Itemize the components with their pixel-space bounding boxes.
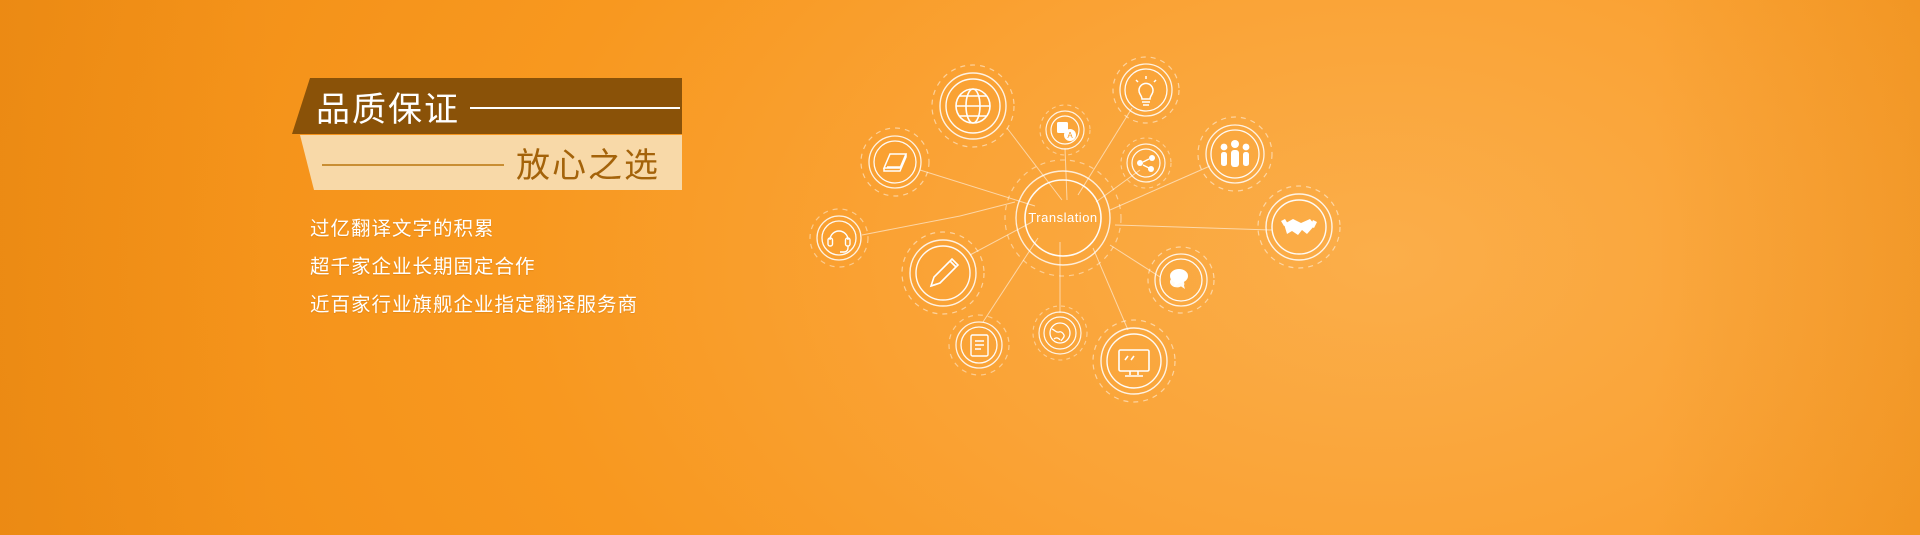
earth-icon xyxy=(1050,323,1070,343)
promo-banner: 品质保证 放心之选 过亿翻译文字的积累 超千家企业长期固定合作 近百家行业旗舰企… xyxy=(0,0,1920,535)
node-chat xyxy=(1148,247,1214,313)
people-icon xyxy=(1221,140,1250,167)
lightbulb-icon xyxy=(1136,76,1156,105)
network-hub: Translation xyxy=(1005,160,1121,276)
node-team xyxy=(1198,117,1272,191)
node-headset xyxy=(810,209,868,267)
node-book xyxy=(861,128,929,196)
node-earth xyxy=(1033,306,1087,360)
node-share xyxy=(1121,138,1171,188)
ribbon-top-band: 品质保证 xyxy=(292,78,682,134)
node-pencil xyxy=(902,232,984,314)
translation-network-graphic: Translation xyxy=(740,30,1440,430)
node-handshake xyxy=(1258,186,1340,268)
translate-icon: A xyxy=(1057,122,1076,141)
monitor-icon xyxy=(1119,350,1149,376)
node-monitor xyxy=(1093,320,1175,402)
document-icon xyxy=(971,335,988,356)
node-lightbulb xyxy=(1113,57,1179,123)
ribbon-title: 品质保证 xyxy=(316,82,460,131)
ribbon-top-rule xyxy=(470,107,680,109)
ribbon-bottom-rule xyxy=(322,164,504,166)
handshake-icon xyxy=(1281,219,1317,235)
globe-icon xyxy=(956,89,990,123)
chat-icon xyxy=(1170,269,1188,289)
ribbon-bottom-band: 放心之选 xyxy=(300,135,682,190)
node-document xyxy=(949,315,1009,375)
pencil-icon xyxy=(931,259,958,286)
node-globe xyxy=(932,65,1014,147)
hub-label: Translation xyxy=(1028,210,1097,225)
headline-ribbon: 品质保证 放心之选 xyxy=(292,78,682,190)
node-translate: A xyxy=(1040,105,1090,155)
headset-icon xyxy=(828,231,850,252)
ribbon-subtitle: 放心之选 xyxy=(516,138,660,187)
svg-text:A: A xyxy=(1067,131,1073,140)
share-icon xyxy=(1137,155,1155,172)
book-icon xyxy=(884,154,906,171)
